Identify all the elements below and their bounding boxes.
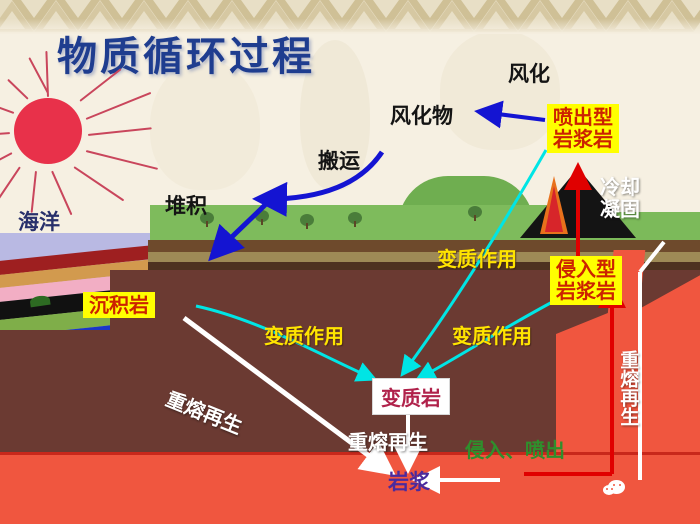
label-deposition: 堆积 [165,190,207,220]
label-remelting-vertical: 重熔再生 [618,350,637,426]
sun-ray [86,92,152,120]
label-metamorphism-2: 变质作用 [264,320,344,349]
sun-ray [7,79,29,100]
background-ghost-shape [440,30,560,150]
label-weathering-products: 风化物 [390,100,453,130]
intrusive-line-1: 侵入型 [556,258,616,280]
label-extrusive-igneous-rock: 喷出型 岩浆岩 [547,104,619,153]
sun-ray [0,102,14,114]
extrusive-line-2: 岩浆岩 [553,128,613,150]
label-cooling-solidification: 冷却 凝固 [600,176,640,221]
tree-icon [348,212,362,224]
extrusive-line-1: 喷出型 [553,106,613,128]
label-intrusion-extrusion: 侵入、喷出 [465,434,565,463]
label-metamorphism-3: 变质作用 [452,320,532,349]
tree-icon [300,214,314,226]
slide-canvas: 物质循环过程 [0,0,700,524]
tree-icon [255,210,269,222]
label-weathering: 风化 [508,58,550,88]
wechat-logo-watermark [603,478,629,500]
label-metamorphic-rock: 变质岩 [372,378,450,415]
cooling-line-2: 凝固 [600,198,640,220]
label-metamorphism-1: 变质作用 [437,243,517,272]
sun-ray [0,152,12,173]
sun-ray [73,166,124,201]
label-sedimentary-rock: 沉积岩 [83,292,155,318]
intrusive-line-2: 岩浆岩 [556,280,616,302]
sun-icon [14,98,82,164]
sun-ray [86,150,158,170]
sun-ray [0,132,10,136]
label-transport: 搬运 [318,145,360,175]
label-magma: 岩浆 [388,466,430,496]
cooling-line-1: 冷却 [600,176,640,198]
label-remelting-center: 重熔再生 [348,426,428,455]
label-ocean: 海洋 [18,206,60,236]
magma-layer [0,452,700,524]
page-title: 物质循环过程 [57,24,315,82]
sun-ray [88,127,152,136]
tree-icon [468,206,482,218]
label-intrusive-igneous-rock: 侵入型 岩浆岩 [550,256,622,305]
sun-ray [45,51,49,97]
sun-ray [0,166,21,204]
lava-core [545,186,563,232]
